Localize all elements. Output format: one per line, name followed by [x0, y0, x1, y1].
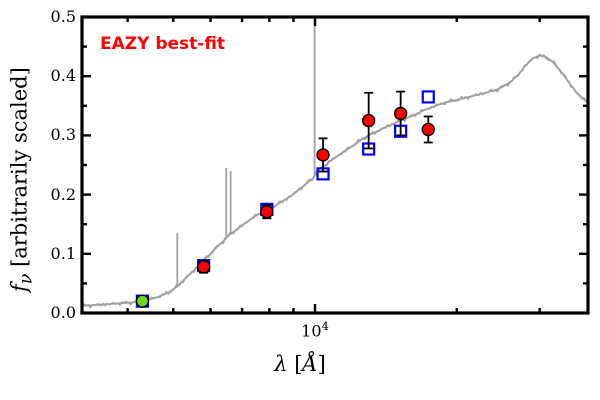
template-noise-overlay: [82, 54, 588, 307]
y-tick-label: 0.1: [30, 244, 76, 263]
observed-flux-point: [363, 115, 375, 127]
spectrum-group: [82, 17, 588, 307]
y-tick-label: 0.0: [30, 303, 76, 322]
x-tick-label: 104: [285, 319, 345, 340]
y-axis-label-text: fν [arbitrarily scaled]: [7, 67, 31, 292]
x-axis-label: λ [Å]: [0, 352, 600, 376]
observed-flux-point: [136, 295, 148, 307]
y-tick-label: 0.2: [30, 185, 76, 204]
y-tick-label: 0.4: [30, 66, 76, 85]
y-tick-label: 0.3: [30, 125, 76, 144]
observed-flux-point: [261, 206, 273, 218]
best-fit-template-line: [82, 55, 588, 305]
observed-flux-point: [395, 107, 407, 119]
y-tick-label: 0.5: [30, 7, 76, 26]
model-flux-square: [423, 91, 434, 102]
plot-frame: [82, 17, 588, 313]
figure-canvas: fν [arbitrarily scaled] λ [Å] EAZY best-…: [0, 0, 600, 400]
observed-flux-point: [422, 123, 434, 135]
observed-flux-point: [317, 149, 329, 161]
observed-flux-point: [198, 261, 210, 273]
eazy-best-fit-label: EAZY best-fit: [100, 34, 225, 54]
